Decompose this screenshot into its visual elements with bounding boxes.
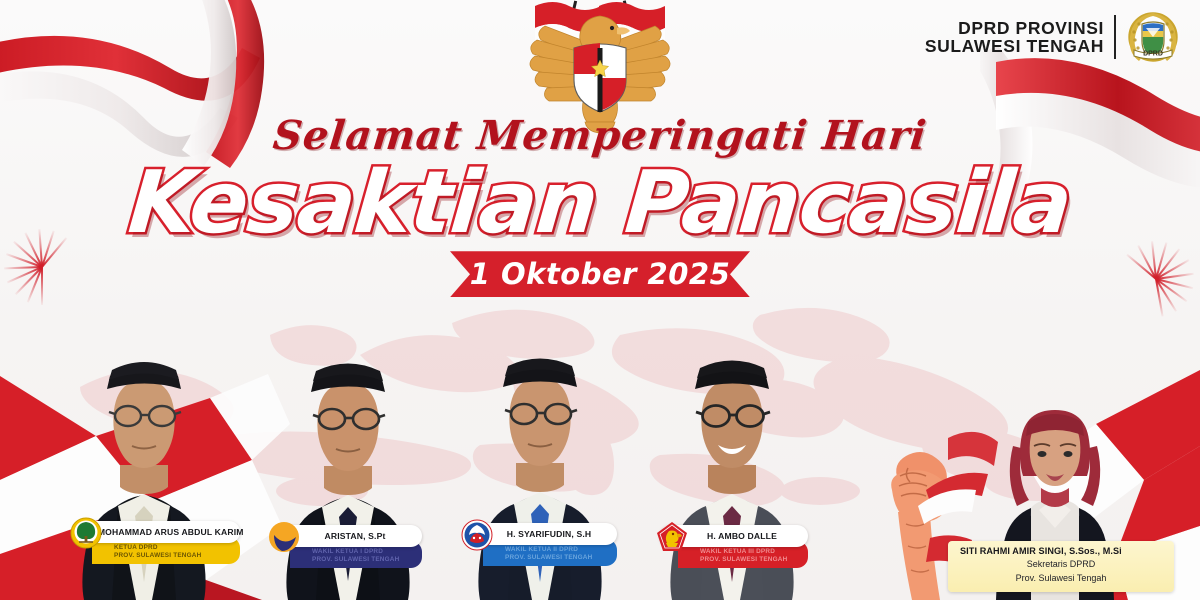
official-name-4: H. AMBO DALLE <box>707 531 777 541</box>
official-role-line1-1: KETUA DPRD <box>114 544 230 552</box>
official-role-line2-4: PROV. SULAWESI TENGAH <box>700 556 798 564</box>
nasdem-logo <box>268 521 300 553</box>
name-plate-4: H. AMBO DALLE WAKIL KETUA III DPRD PROV.… <box>660 525 808 568</box>
name-plate-3: H. SYARIFUDIN, S.H WAKIL KETUA II DPRD P… <box>465 523 617 566</box>
official-role-line2-3: PROV. SULAWESI TENGAH <box>505 554 607 562</box>
name-plate-5: SITI RAHMI AMIR SINGI, S.Sos., M.Si Sekr… <box>948 541 1174 592</box>
official-role-line2-2: PROV. SULAWESI TENGAH <box>312 556 412 564</box>
header-divider <box>1114 15 1116 59</box>
secretary-name: SITI RAHMI AMIR SINGI, S.Sos., M.Si <box>960 546 1162 556</box>
date-ribbon: 1 Oktober 2025 <box>450 251 750 297</box>
secretary-plate-panel: SITI RAHMI AMIR SINGI, S.Sos., M.Si Sekr… <box>948 541 1174 592</box>
official-role-line1-3: WAKIL KETUA II DPRD <box>505 546 607 554</box>
name-plate-2: ARISTAN, S.Pt WAKIL KETUA I DPRD PROV. S… <box>272 525 422 568</box>
secretary-role-line1: Sekretaris DPRD <box>960 559 1162 571</box>
event-date: 1 Oktober 2025 <box>450 251 750 297</box>
headline-block: Selamat Memperingati Hari Kesaktian Panc… <box>0 112 1200 297</box>
official-role-line1-2: WAKIL KETUA I DPRD <box>312 548 412 556</box>
dprd-sulawesi-tengah-emblem: DPRD <box>1126 10 1180 64</box>
page-title: Kesaktian Pancasila <box>0 161 1200 245</box>
poster-canvas: DPRD PROVINSI SULAWESI TENGAH <box>0 0 1200 600</box>
dprd-header-brand: DPRD PROVINSI SULAWESI TENGAH <box>925 10 1180 64</box>
official-role-line2-1: PROV. SULAWESI TENGAH <box>114 552 230 560</box>
dprd-org-line1: DPRD PROVINSI <box>925 19 1104 37</box>
secretary-role-line2: Prov. Sulawesi Tengah <box>960 573 1162 585</box>
official-role-line1-4: WAKIL KETUA III DPRD <box>700 548 798 556</box>
pdip-bull-logo <box>461 519 493 551</box>
golkar-banyan-tree-logo <box>70 517 102 549</box>
official-name-3: H. SYARIFUDIN, S.H <box>507 529 592 539</box>
dprd-org-line2: SULAWESI TENGAH <box>925 37 1104 55</box>
gerindra-garuda-logo <box>656 521 688 553</box>
official-name-1: H. MOHAMMAD ARUS ABDUL KARIM <box>86 527 243 537</box>
name-plate-1: H. MOHAMMAD ARUS ABDUL KARIM KETUA DPRD … <box>74 521 240 564</box>
official-name-2: ARISTAN, S.Pt <box>325 531 386 541</box>
greeting-text: Selamat Memperingati Hari <box>0 112 1200 159</box>
officials-row: H. MOHAMMAD ARUS ABDUL KARIM KETUA DPRD … <box>0 300 1200 600</box>
dprd-emblem-label: DPRD <box>1143 51 1163 58</box>
